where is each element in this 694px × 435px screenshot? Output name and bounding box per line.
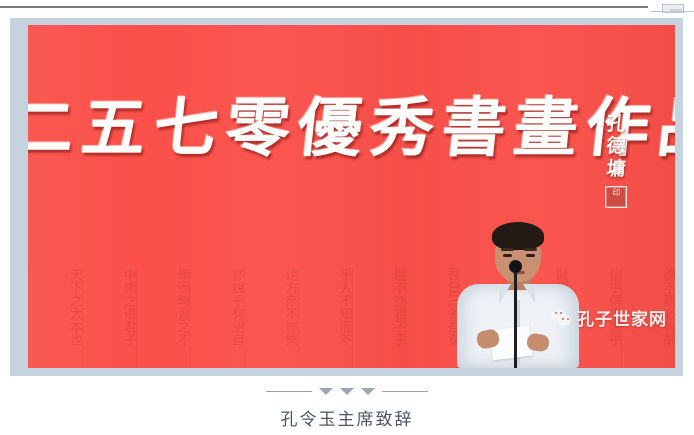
headline-char: 零 <box>223 97 294 161</box>
signature-char: 德 <box>598 135 634 157</box>
calligraphy-column: 學而時習之不 <box>136 268 190 368</box>
triangle-down-icon <box>319 388 333 395</box>
watermark-label: 孔子世家网 <box>577 305 667 330</box>
calligraphy-column: 乎人不知而不 <box>298 268 352 368</box>
headline-char: 二 <box>28 97 77 161</box>
wechat-dot <box>555 312 557 314</box>
divider-line-left <box>266 391 312 392</box>
site-watermark: 孔子世家网 <box>551 305 667 330</box>
triangle-down-icon <box>361 388 375 395</box>
calligraphy-column: 中庸之道君子 <box>82 268 136 368</box>
headline-char: 秀 <box>367 97 438 161</box>
wechat-dot <box>567 318 569 320</box>
partial-toolbar-stub[interactable] <box>648 3 694 15</box>
photo-caption: 孔令玉主席致辞 <box>0 405 694 430</box>
stub-chip-fill <box>670 9 682 13</box>
calligraphy-column: 慍不亦君子乎 <box>352 268 406 368</box>
top-divider-rule <box>0 6 648 8</box>
microphone-stem <box>514 266 517 368</box>
divider-line-right <box>382 391 428 392</box>
calligraphy-column: 亦說乎有朋自 <box>190 268 244 368</box>
signature-char: 墉 <box>598 158 634 180</box>
speaker-eyebrow-left <box>501 248 514 251</box>
speaker-eye-right <box>526 254 535 257</box>
banner-headline: 二 五 七 零 優 秀 書 畫 作 品 展 <box>28 97 650 161</box>
calligraphy-column: 天下之大本也 <box>28 268 82 368</box>
microphone-icon <box>509 260 522 273</box>
triangle-down-icon <box>340 388 354 395</box>
wechat-bubble-small <box>558 315 571 326</box>
caption-divider <box>0 388 694 395</box>
speaker-figure <box>451 222 583 368</box>
wechat-dot <box>560 312 562 314</box>
signature-seal: 印 <box>605 186 627 208</box>
speaker-eyebrow-right <box>524 248 537 251</box>
headline-char: 書 <box>439 97 510 161</box>
calligraphy-column: 遠方來不亦樂 <box>244 268 298 368</box>
headline-char: 畫 <box>511 97 582 161</box>
wechat-dot <box>562 318 564 320</box>
photo-image[interactable]: 天下之大本也 中庸之道君子 學而時習之不 亦說乎有朋自 遠方來不亦樂 乎人不知而… <box>28 25 675 368</box>
wechat-logo-icon <box>551 307 572 328</box>
headline-char: 七 <box>151 97 222 161</box>
speaker-collar-right <box>523 284 535 304</box>
speaker-collar-left <box>499 284 511 304</box>
speaker-eye-left <box>503 254 512 257</box>
headline-char: 優 <box>295 97 366 161</box>
banner-signature: 孔 德 墉 印 <box>599 113 633 208</box>
speaker-hair <box>492 222 544 250</box>
signature-char: 孔 <box>598 113 634 135</box>
headline-char: 五 <box>79 97 150 161</box>
photo-frame: 天下之大本也 中庸之道君子 學而時習之不 亦說乎有朋自 遠方來不亦樂 乎人不知而… <box>10 18 683 376</box>
